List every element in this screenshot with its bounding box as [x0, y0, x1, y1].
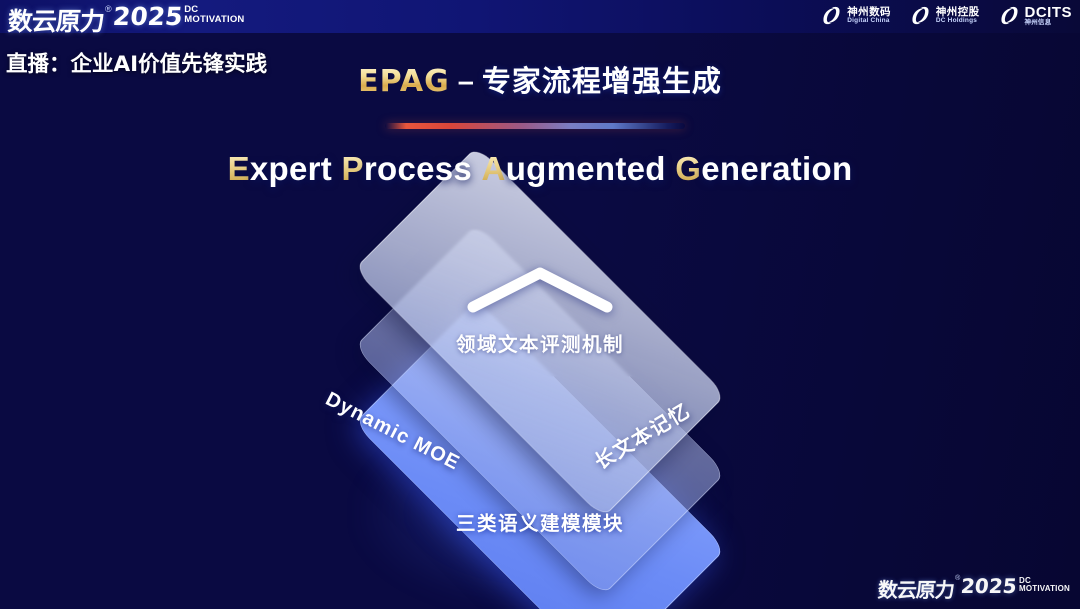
- watermark-dc-line2: MOTIVATION: [1019, 585, 1070, 593]
- partner-name-cn: 神州信息: [1025, 20, 1073, 27]
- diagram-label-top: 领域文本评测机制: [270, 328, 810, 357]
- subtitle-initial-e: E: [228, 150, 250, 187]
- partner-name-en: DCITS: [1025, 5, 1073, 20]
- partner-name-en: Digital China: [847, 18, 891, 25]
- subtitle-word-generation: eneration: [701, 150, 852, 187]
- subtitle-word-process: rocess: [364, 150, 472, 187]
- swirl-logo-icon: [998, 4, 1021, 27]
- watermark-year: 2025: [960, 574, 1018, 598]
- watermark-dc-motivation: DC MOTIVATION: [1019, 577, 1070, 593]
- partner-logo-dcits: DCITS 神州信息: [998, 4, 1073, 27]
- watermark-name-cn: 数云原力: [877, 574, 955, 603]
- subtitle-word-augmented: ugmented: [506, 150, 666, 187]
- brand-dc-line2: MOTIVATION: [184, 15, 244, 25]
- title-dash: –: [458, 66, 474, 98]
- partner-name-cn: 神州数码: [847, 7, 891, 18]
- subtitle-word-expert: xpert: [250, 150, 332, 187]
- subtitle-initial-a: A: [482, 150, 506, 187]
- partner-logo-dc-holdings: 神州控股 DC Holdings: [909, 4, 980, 27]
- title-chinese: 专家流程增强生成: [482, 64, 722, 98]
- layered-architecture-diagram: 三类语义建模模块 Dynamic MOE 长文本记忆 领域文本评测机制: [270, 218, 810, 588]
- diagram-label-bottom: 三类语义建模模块: [270, 507, 810, 536]
- title-acronym: EPAG: [358, 64, 450, 99]
- partner-name-cn: 神州控股: [936, 7, 980, 18]
- partner-logo-digital-china: 神州数码 Digital China: [820, 4, 891, 27]
- partner-name-en: DC Holdings: [936, 18, 980, 25]
- slide-canvas: 数云原力 ® 2025 DC MOTIVATION 直播：企业AI价值先锋实践 …: [0, 0, 1080, 609]
- subtitle-initial-g: G: [675, 150, 701, 187]
- chevron-up-icon: [465, 263, 615, 317]
- subtitle-expansion: Expert Process Augmented Generation: [0, 150, 1080, 188]
- live-stream-title: 直播：企业AI价值先锋实践: [6, 47, 267, 78]
- swirl-logo-icon: [820, 4, 843, 27]
- watermark-registered-mark: ®: [955, 575, 960, 582]
- brand-logo: 数云原力 ® 2025 DC MOTIVATION: [8, 2, 244, 38]
- gradient-divider: [385, 123, 685, 129]
- subtitle-initial-p: P: [342, 150, 364, 187]
- watermark-logo: 数云原力 ® 2025 DC MOTIVATION: [878, 574, 1070, 603]
- brand-year: 2025: [111, 2, 184, 31]
- brand-dc-motivation: DC MOTIVATION: [184, 5, 244, 24]
- partner-logo-group: 神州数码 Digital China 神州控股 DC Holdings: [820, 4, 1072, 27]
- swirl-logo-icon: [909, 4, 932, 27]
- brand-name-cn: 数云原力: [7, 2, 106, 38]
- brand-registered-mark: ®: [105, 4, 112, 14]
